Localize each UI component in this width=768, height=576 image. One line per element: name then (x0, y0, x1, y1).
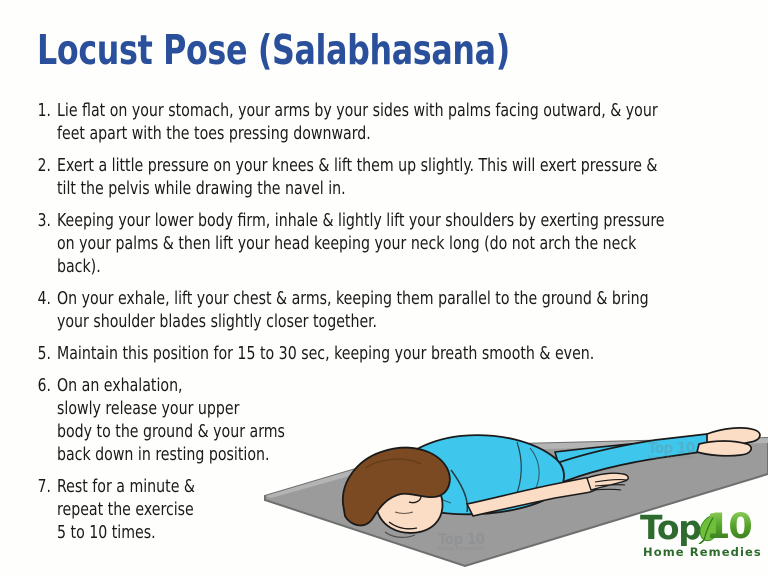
logo-top-word: Top (640, 511, 701, 545)
slide-canvas: Locust Pose (Salabhasana) 1. Lie flat on… (0, 0, 768, 576)
list-item-number: 7. (31, 476, 57, 499)
list-item-text: Lie flat on your stomach, your arms by y… (57, 100, 679, 146)
list-item-number: 2. (31, 155, 57, 178)
page-title: Locust Pose (Salabhasana) (37, 26, 510, 74)
brand-logo[interactable]: Top 10 Home Remedies (640, 512, 764, 564)
list-item: 1. Lie flat on your stomach, your arms b… (28, 100, 748, 146)
list-item-number: 3. (31, 210, 57, 233)
list-item: 2. Exert a little pressure on your knees… (28, 155, 748, 201)
list-item: 3. Keeping your lower body firm, inhale … (28, 210, 748, 279)
logo-wordmark: Top 10 (640, 512, 764, 546)
list-item: 4. On your exhale, lift your chest & arm… (28, 288, 748, 334)
list-item: 5. Maintain this position for 15 to 30 s… (28, 343, 748, 366)
list-item-text: Maintain this position for 15 to 30 sec,… (57, 343, 679, 366)
list-item-number: 1. (31, 100, 57, 123)
list-item-text: On your exhale, lift your chest & arms, … (57, 288, 679, 334)
list-item-text: Keeping your lower body firm, inhale & l… (57, 210, 679, 279)
list-item-number: 6. (31, 375, 57, 398)
list-item-number: 5. (31, 343, 57, 366)
logo-subtitle: Home Remedies (643, 545, 762, 559)
feet (697, 428, 760, 456)
list-item-number: 4. (31, 288, 57, 311)
logo-number: 10 (706, 510, 751, 545)
list-item-text: Exert a little pressure on your knees & … (57, 155, 679, 201)
